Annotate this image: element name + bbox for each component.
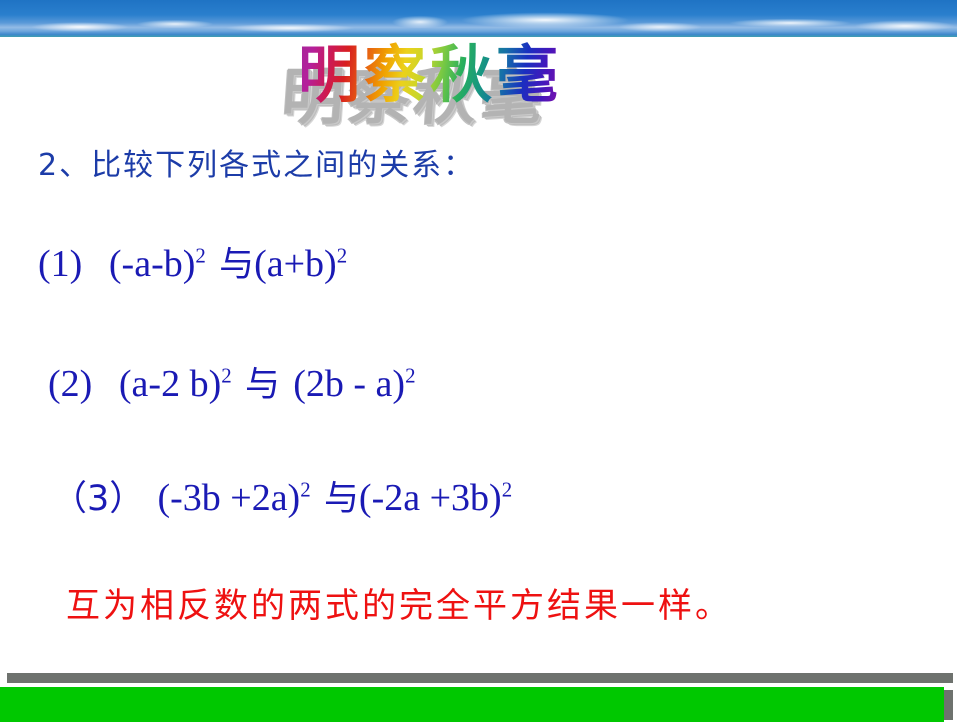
expression-3-left: (-3b +2a) — [157, 477, 300, 519]
question-prompt: 2、比较下列各式之间的关系： — [38, 140, 475, 184]
title-char-3: 秋 — [430, 40, 496, 110]
expression-2-left-exponent: 2 — [221, 363, 231, 387]
expression-1-label: (1) — [38, 243, 82, 285]
expression-row-2: (2)(a-2 b)2与(2b - a)2 — [48, 356, 416, 407]
expression-1-right: (a+b) — [254, 243, 337, 285]
expression-row-3: （3）(-3b +2a)2与(-2a +3b)2 — [52, 470, 512, 521]
title-block: 明察秋毫 明察秋毫 — [0, 40, 960, 125]
title-char-2: 察 — [364, 40, 430, 110]
expression-3-connector: 与 — [324, 479, 359, 519]
expression-2-left: (a-2 b) — [119, 363, 221, 405]
expression-3-label: （3） — [52, 479, 144, 519]
page-title: 明察秋毫 — [298, 40, 562, 110]
expression-3-right: (-2a +3b) — [359, 477, 502, 519]
expression-2-label: (2) — [48, 363, 92, 405]
expression-row-1: (1)(-a-b)2与(a+b)2 — [38, 236, 347, 287]
title-char-4: 毫 — [496, 40, 562, 110]
footer-green-bar — [0, 685, 944, 722]
expression-1-left-exponent: 2 — [195, 243, 205, 267]
expression-1-connector: 与 — [219, 245, 254, 285]
sky-banner-image — [0, 0, 957, 37]
expression-3-left-exponent: 2 — [300, 477, 310, 501]
conclusion-text: 互为相反数的两式的完全平方结果一样。 — [66, 578, 732, 627]
expression-3-right-exponent: 2 — [502, 477, 512, 501]
title-char-1: 明 — [298, 40, 364, 110]
expression-2-right: (2b - a) — [293, 363, 405, 405]
expression-2-connector: 与 — [245, 365, 280, 405]
footer-gray-bar — [7, 673, 953, 683]
expression-2-right-exponent: 2 — [405, 363, 415, 387]
expression-1-left: (-a-b) — [109, 243, 195, 285]
expression-1-right-exponent: 2 — [337, 243, 347, 267]
